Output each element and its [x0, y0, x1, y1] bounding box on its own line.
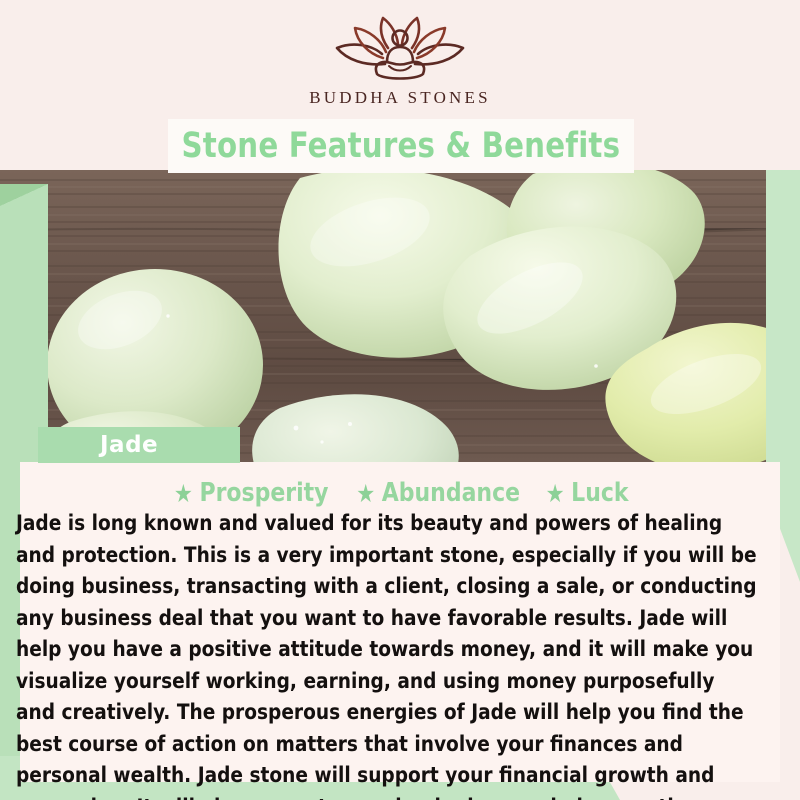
lotus-meditation-icon [325, 14, 475, 86]
star-icon: ★ [356, 481, 375, 506]
keyword-prosperity: ★ Prosperity [173, 478, 328, 508]
brand-logo: BUDDHA STONES [0, 14, 800, 118]
stone-name: Jade [100, 432, 158, 458]
stone-description: Jade is long known and valued for its be… [16, 508, 788, 800]
stone-name-bar: Jade [38, 427, 240, 463]
keyword-label: Prosperity [199, 478, 328, 508]
section-title-banner: Stone Features & Benefits [168, 119, 634, 173]
stone-info-card: BUDDHA STONES Stone Features & Benefits [0, 0, 800, 800]
keyword-label: Abundance [382, 478, 520, 508]
brand-name: BUDDHA STONES [309, 88, 491, 108]
page-title: Stone Features & Benefits [182, 126, 621, 166]
stone-photo-illustration [0, 170, 800, 462]
stone-photo [0, 170, 800, 462]
stone-description-text: Jade is long known and valued for its be… [16, 508, 757, 800]
star-icon: ★ [173, 481, 192, 506]
star-icon: ★ [546, 481, 565, 506]
keyword-list: ★ Prosperity ★ Abundance ★ Luck [20, 477, 780, 509]
keyword-abundance: ★ Abundance [356, 478, 520, 508]
keyword-label: Luck [571, 478, 628, 508]
keyword-luck: ★ Luck [546, 478, 629, 508]
